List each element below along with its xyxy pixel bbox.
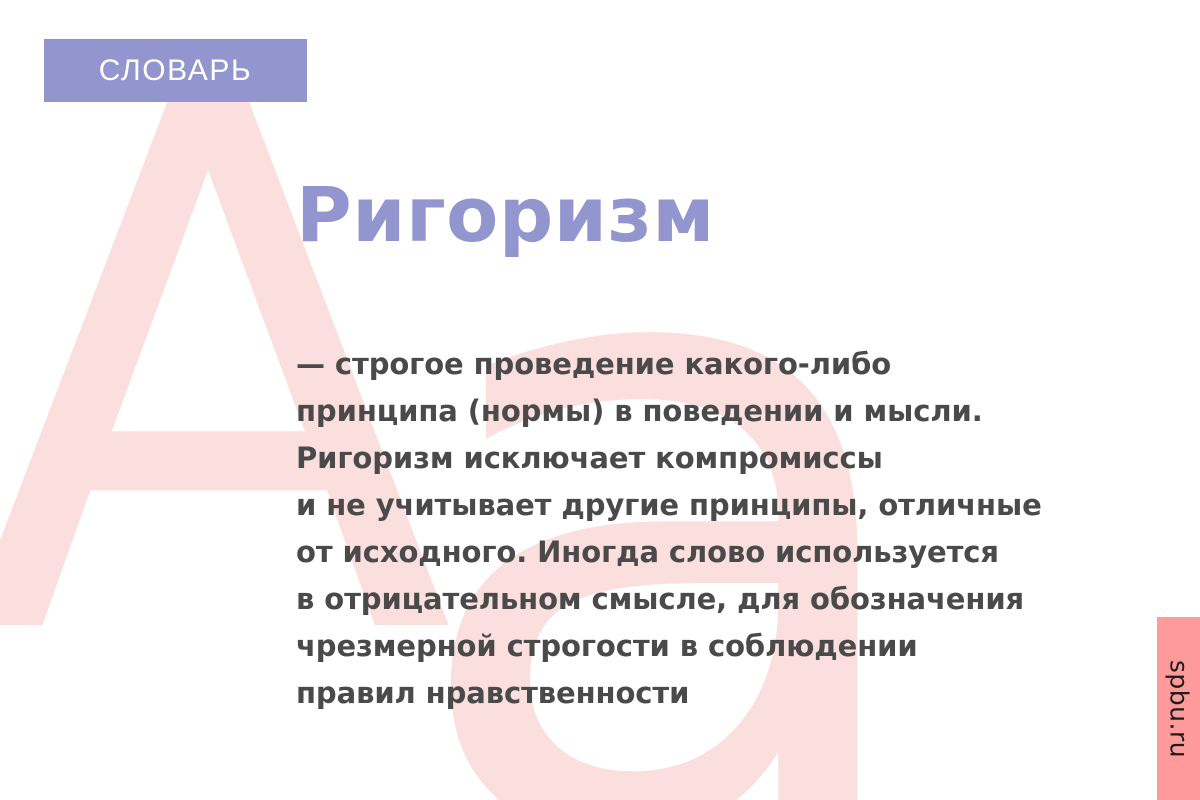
term-definition: — строгое проведение какого-либо принцип… — [296, 341, 1176, 717]
term-title: Ригоризм — [296, 175, 1176, 255]
dictionary-card: A a СЛОВАРЬ Ригоризм — строгое проведени… — [0, 0, 1200, 800]
category-badge: СЛОВАРЬ — [44, 39, 307, 102]
site-tag-label: spbu.ru — [1166, 659, 1191, 757]
entry-content: Ригоризм — строгое проведение какого-либ… — [296, 175, 1176, 717]
site-tag[interactable]: spbu.ru — [1157, 617, 1200, 800]
category-badge-label: СЛОВАРЬ — [99, 56, 253, 86]
